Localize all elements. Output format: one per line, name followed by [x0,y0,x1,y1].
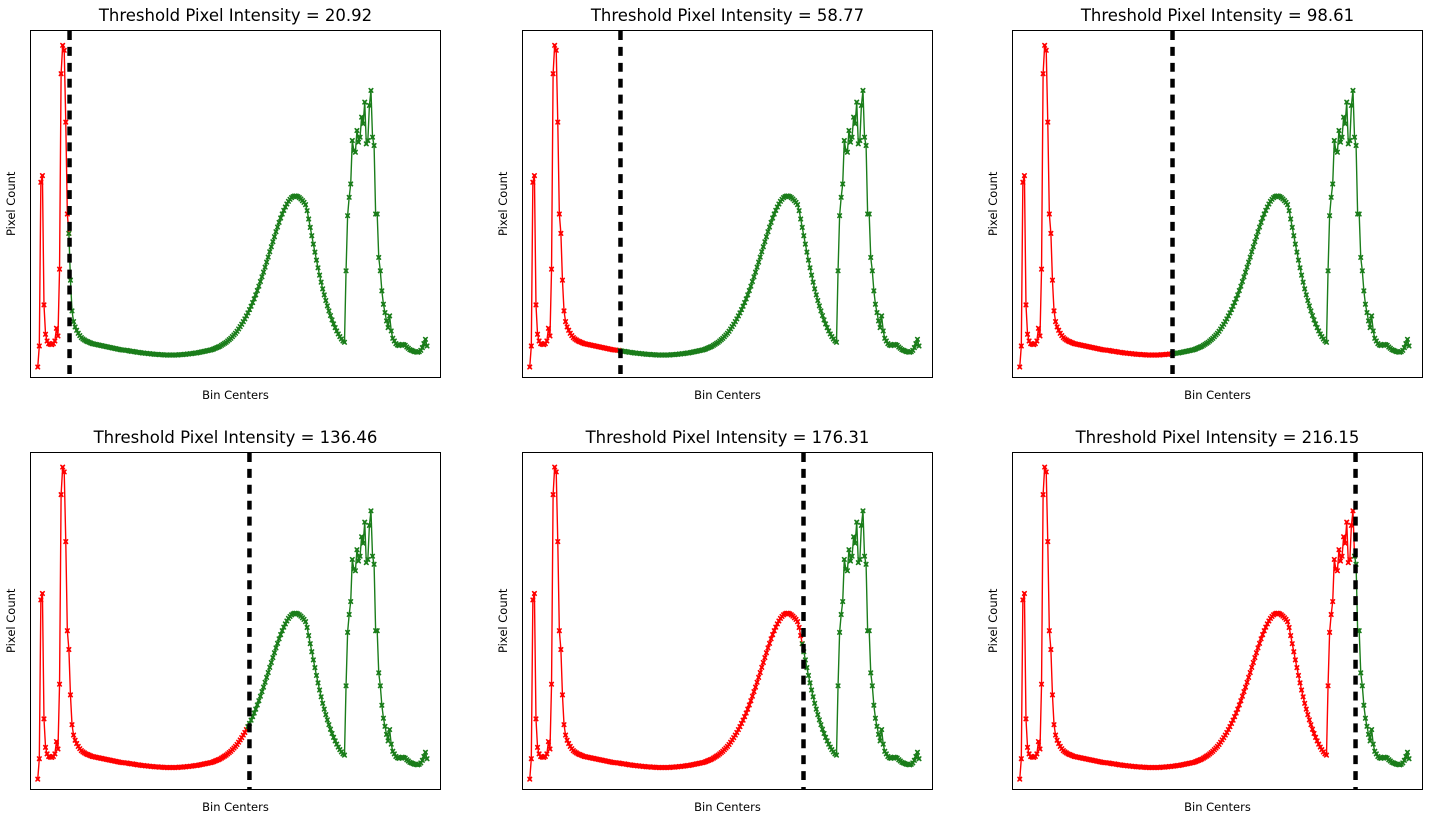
subplot-title: Threshold Pixel Intensity = 58.77 [522,2,933,30]
y-axis-label: Pixel Count [496,164,510,244]
y-axis-label: Pixel Count [986,164,1000,244]
figure-canvas: Threshold Pixel Intensity = 20.92Pixel C… [0,0,1434,831]
x-axis-label: Bin Centers [30,800,441,814]
plot-area [30,30,441,378]
plot-area [522,452,933,790]
series-above-threshold [1170,88,1412,357]
plot-area [522,30,933,378]
series-below-threshold [1017,43,1175,370]
y-axis-label: Pixel Count [4,581,18,661]
series-above-threshold [245,508,430,768]
series-above-threshold [1352,553,1412,767]
subplot-2: Threshold Pixel Intensity = 58.77Pixel C… [492,2,933,406]
x-axis-label: Bin Centers [1012,388,1423,402]
series-below-threshold [527,464,805,782]
series-below-threshold [1017,464,1357,782]
subplot-title: Threshold Pixel Intensity = 176.31 [522,424,933,452]
series-above-threshold [800,508,922,768]
y-axis-label: Pixel Count [4,164,18,244]
plot-area [1012,452,1423,790]
plot-area [30,452,441,790]
y-axis-label: Pixel Count [496,581,510,661]
subplot-3: Threshold Pixel Intensity = 98.61Pixel C… [982,2,1423,406]
series-above-threshold [617,88,921,358]
series-below-threshold [35,464,251,782]
subplot-6: Threshold Pixel Intensity = 216.15Pixel … [982,424,1423,818]
x-axis-label: Bin Centers [30,388,441,402]
x-axis-label: Bin Centers [522,800,933,814]
subplot-1: Threshold Pixel Intensity = 20.92Pixel C… [0,2,441,406]
subplot-4: Threshold Pixel Intensity = 136.46Pixel … [0,424,441,818]
subplot-title: Threshold Pixel Intensity = 136.46 [30,424,441,452]
series-below-threshold [35,43,72,370]
subplot-5: Threshold Pixel Intensity = 176.31Pixel … [492,424,933,818]
series-above-threshold [66,88,430,358]
subplot-title: Threshold Pixel Intensity = 216.15 [1012,424,1423,452]
x-axis-label: Bin Centers [522,388,933,402]
subplot-title: Threshold Pixel Intensity = 20.92 [30,2,441,30]
x-axis-label: Bin Centers [1012,800,1423,814]
series-below-threshold [527,43,623,370]
subplot-title: Threshold Pixel Intensity = 98.61 [1012,2,1423,30]
y-axis-label: Pixel Count [986,581,1000,661]
plot-area [1012,30,1423,378]
